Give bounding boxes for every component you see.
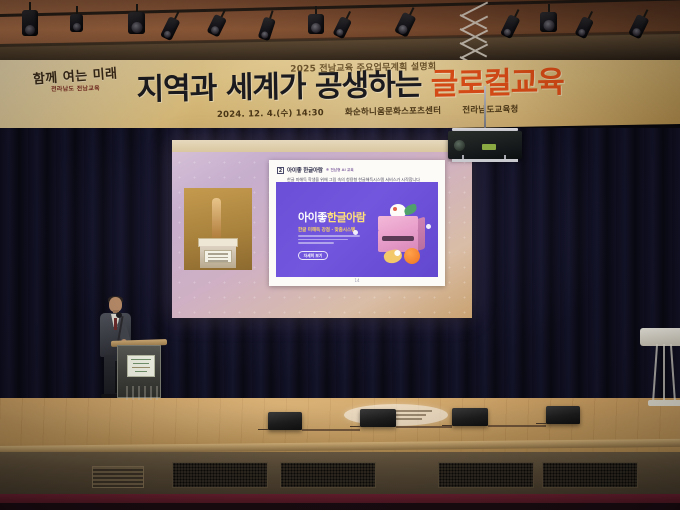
podium-body (117, 345, 161, 398)
carousel-dot-left (353, 230, 358, 235)
apron-grille-panel-2 (280, 462, 376, 488)
light-lens-icon (311, 23, 321, 33)
side-table-legs (652, 344, 676, 404)
stage-monitor-1 (268, 412, 302, 430)
hero-body-lines (298, 235, 360, 246)
hero-cta-button: 자세히 보기 (298, 251, 328, 260)
ceiling (0, 0, 680, 64)
light-lens-icon (131, 22, 142, 33)
projector-support-bar (452, 159, 518, 162)
stage-monitor-3 (452, 408, 488, 426)
character-bottom-icon (383, 248, 403, 264)
banner-headline-accent: 글로컬교육 (431, 65, 565, 102)
exhibit-caption-plate (204, 250, 232, 263)
podium-rail-slats (126, 386, 156, 400)
slide-section-number: 2 (277, 167, 284, 174)
slide-heading: 아이좋 한글아람 (287, 166, 323, 174)
stage-banner: 함께 여는 미래 전라남도 전남교육 2025 전남교육 주요업무계획 설명회 … (0, 60, 680, 136)
screen-top-band (172, 140, 472, 152)
front-row-shadow (0, 503, 680, 510)
side-table-base (648, 400, 680, 406)
presentation-slide: 2 아이좋 한글아람 ※ 전남형 AI 교육 한글 미해득 학생을 위해 그림 … (269, 160, 445, 286)
podium-sign (127, 355, 155, 377)
statue-figure (212, 198, 221, 238)
banner-location: 화순하니움문화스포츠센터 (345, 106, 441, 118)
banner-headline: 지역과 세계가 공생하는 글로컬교육 (136, 68, 564, 105)
ceiling-projector (448, 131, 522, 159)
projector-lens-icon (454, 140, 465, 151)
hero-subtitle: 한글 미해득 강점 · 맞춤시스템 (298, 227, 355, 233)
monitor-cable-3 (488, 425, 546, 427)
hero-title-word1: 아이좋 (298, 211, 327, 224)
stage-light-3 (128, 4, 145, 34)
apron-louver-vent (92, 466, 144, 488)
apron-grille-panel-3 (438, 462, 534, 488)
banner-headline-part1: 지역과 세계가 공생하는 (136, 67, 431, 107)
projector-indicator-light (482, 144, 496, 150)
stage-monitor-4 (546, 406, 580, 424)
banner-organizer: 전라남도교육청 (462, 105, 518, 116)
slide-heading-tag: ※ 전남형 AI 교육 (326, 168, 354, 173)
monitor-cable-2 (396, 426, 452, 428)
leaf-icon (403, 203, 418, 216)
orange-ball-icon (404, 248, 420, 264)
box-slot (382, 236, 414, 241)
stage-monitor-2 (360, 409, 396, 427)
hero-title: 아이좋한글아람 (298, 212, 365, 223)
education-office-logo: 함께 여는 미래 전라남도 전남교육 (20, 70, 130, 94)
stage-light-11 (540, 4, 557, 32)
hero-illustration (364, 196, 434, 268)
carousel-dot-right (426, 224, 431, 229)
apron-grille-panel-1 (172, 462, 268, 488)
banner-date: 2024. 12. 4.(수) 14:30 (217, 108, 324, 120)
scissor-ladder-icon (460, 8, 486, 64)
auditorium-stage-photo: 함께 여는 미래 전라남도 전남교육 2025 전남교육 주요업무계획 설명회 … (0, 0, 680, 510)
light-lens-icon (73, 23, 81, 31)
microphone-icon (116, 312, 122, 318)
projector-mount-rod (484, 86, 486, 130)
monitor-cable-1 (302, 429, 360, 431)
stage-light-1 (22, 2, 38, 36)
projection-screen: 2 아이좋 한글아람 ※ 전남형 AI 교육 한글 미해득 학생을 위해 그림 … (172, 140, 472, 318)
light-lens-icon (543, 20, 554, 31)
exhibit-photo-panel (184, 188, 252, 270)
hero-title-word2: 한글아람 (327, 211, 365, 224)
slide-page-number: 14 (269, 278, 445, 283)
stage-light-2 (70, 6, 83, 32)
light-lens-icon (25, 25, 35, 35)
slide-header: 2 아이좋 한글아람 ※ 전남형 AI 교육 한글 미해득 학생을 위해 그림 … (277, 166, 437, 183)
podium (115, 340, 163, 398)
stage-light-7 (308, 6, 324, 34)
box-top-face (378, 216, 418, 231)
apron-grille-panel-4 (542, 462, 638, 488)
slide-hero-canvas: 아이좋한글아람 한글 미해득 강점 · 맞춤시스템 자세히 보기 (276, 182, 438, 277)
